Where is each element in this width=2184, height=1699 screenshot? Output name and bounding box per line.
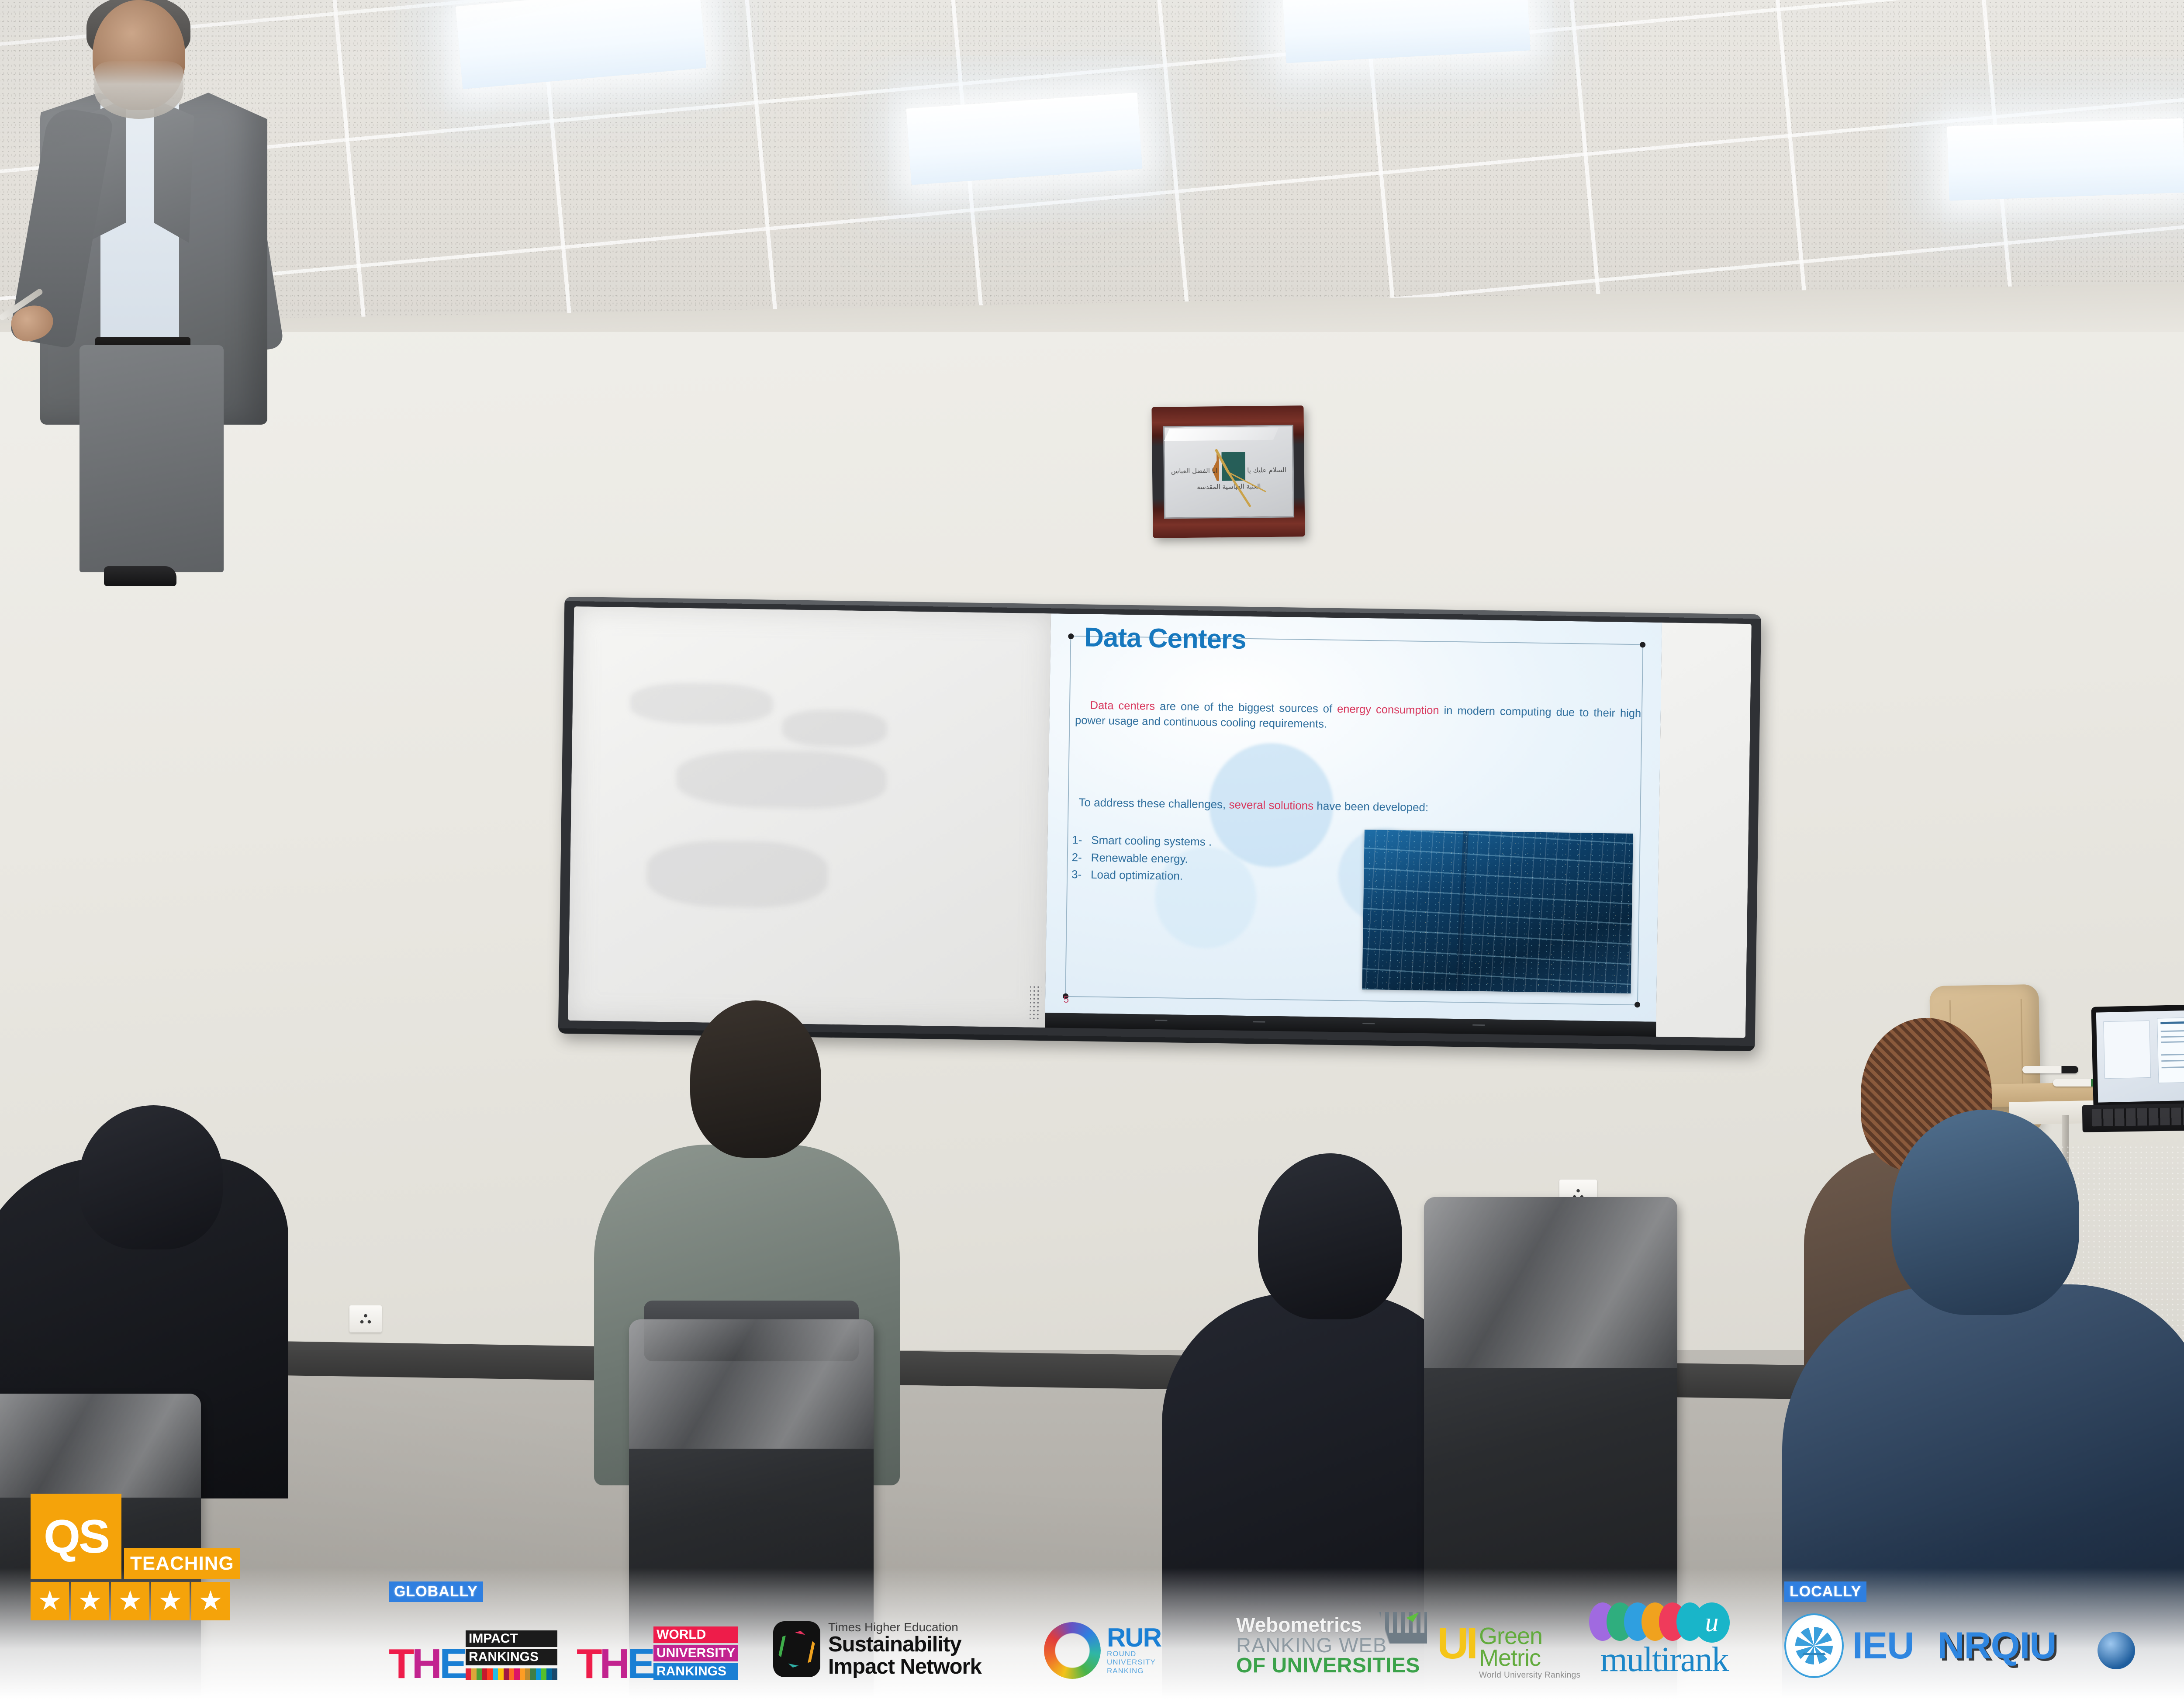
wall-clock: السلام عليك يا ابا الفضل العباس العتبة ا… — [1151, 405, 1305, 538]
ceiling-light-panel — [906, 93, 1143, 185]
locally-badge: LOCALLY — [1784, 1581, 1866, 1602]
slide-preview-pane — [2157, 1016, 2184, 1083]
presenter-shoe — [104, 566, 176, 586]
whiteboard-panel-right[interactable] — [1656, 623, 1752, 1038]
the-world-chips: WORLD UNIVERSITY RANKINGS — [653, 1626, 738, 1680]
webometrics-logo: Webometrics RANKING WEB OF UNIVERSITIES — [1236, 1615, 1420, 1676]
interactive-whiteboard[interactable]: Data Centers Data centers are one of the… — [558, 597, 1762, 1052]
nrqiu-label: NRQIU — [1937, 1624, 2056, 1668]
clock-glass-glare — [1164, 428, 1279, 441]
clock-arabic-right: السلام عليك يا — [1247, 466, 1286, 474]
slide-list-number: 1- — [1072, 831, 1092, 849]
sust-line2: Sustainability — [828, 1633, 981, 1656]
sdg-color-swatch — [498, 1668, 503, 1680]
presenter-trousers — [79, 345, 224, 572]
chair-plastic-wrap — [629, 1319, 874, 1449]
rur-ring-icon — [1044, 1622, 1101, 1679]
sdg-color-swatch — [471, 1668, 476, 1680]
presentation-screen[interactable]: Data Centers Data centers are one of the… — [1045, 613, 1662, 1022]
slide-list-item: 3-Load optimization. — [1071, 866, 1212, 885]
laptop-slide-title — [2160, 1021, 2184, 1024]
chair-plastic-wrap — [0, 1394, 201, 1498]
laptop-screen[interactable] — [2096, 1008, 2184, 1102]
the-letter: H — [600, 1647, 627, 1682]
sdg-color-swatch — [552, 1668, 557, 1680]
the-chip: IMPACT — [466, 1630, 557, 1647]
slide-handle — [1640, 642, 1645, 648]
sdg-color-swatch — [520, 1668, 525, 1680]
rur-globe-icon — [2098, 1632, 2135, 1669]
presenter-beard — [94, 61, 183, 119]
the-impact-rankings-logo: THE IMPACT RANKINGS — [389, 1630, 557, 1682]
slide-solution-list: 1-Smart cooling systems .2-Renewable ene… — [1071, 831, 1212, 885]
qs-brand-label: QS — [31, 1494, 121, 1579]
rur-logo: RUR ROUND UNIVERSITY RANKING — [1044, 1622, 1161, 1679]
the-chip: RANKINGS — [466, 1649, 557, 1665]
globally-badge: GLOBALLY — [389, 1581, 483, 1602]
slide-list-item: 1-Smart cooling systems . — [1072, 831, 1212, 851]
sdg-color-swatch — [482, 1668, 487, 1680]
ieu-label: IEU — [1852, 1624, 1914, 1668]
slide-title: Data Centers — [1084, 622, 1246, 655]
rur-abbr: RUR — [1107, 1626, 1161, 1650]
qs-category-label: TEACHING — [124, 1548, 240, 1579]
slide-list-number: 2- — [1071, 849, 1091, 866]
ieu-seal-icon — [1784, 1613, 1844, 1678]
whiteboard-panel[interactable] — [568, 606, 1051, 1028]
qs-stars-logo: QS TEACHING ★★★★★ — [31, 1494, 336, 1682]
uigm-metric: Metric — [1479, 1647, 1580, 1669]
slide-list-text: Load optimization. — [1091, 868, 1183, 882]
webo-line3: OF UNIVERSITIES — [1236, 1655, 1420, 1676]
wall-power-socket — [349, 1305, 382, 1332]
slide-image-leds — [1362, 830, 1633, 993]
sdg-color-swatch — [466, 1668, 471, 1680]
qs-star-icon: ★ — [111, 1582, 149, 1620]
slide-text-normal: are one of the biggest sources of — [1155, 700, 1337, 715]
the-world-rankings-logo: THE WORLD UNIVERSITY RANKINGS — [577, 1626, 738, 1682]
the-chip: WORLD — [653, 1626, 738, 1643]
sdg-color-swatch — [509, 1668, 514, 1680]
accreditation-banner: QS TEACHING ★★★★★ GLOBALLY THE IMPACT RA… — [0, 1568, 2184, 1699]
slide-text-highlight: Data centers — [1090, 699, 1155, 713]
sdg-color-swatch — [487, 1668, 492, 1680]
slide-list-text: Renewable energy. — [1091, 851, 1188, 865]
remote-control-icon[interactable] — [1030, 984, 1041, 1021]
local-accreditation-logos: IEU NRQIU — [1784, 1613, 2056, 1678]
uigm-green: Green — [1479, 1626, 1580, 1647]
board-surface: Data Centers Data centers are one of the… — [568, 606, 1752, 1038]
slide-list-text: Smart cooling systems . — [1091, 834, 1212, 848]
slide-list-item: 2-Renewable energy. — [1071, 849, 1212, 868]
audience-head — [1258, 1153, 1402, 1319]
slide-page-number: 5 — [1064, 994, 1069, 1005]
rur-line2: UNIVERSITY — [1107, 1658, 1161, 1667]
sdg-color-swatch — [530, 1668, 536, 1680]
slide-handle — [1068, 633, 1074, 639]
audience-head — [79, 1105, 223, 1249]
multirank-u-mark: u — [1694, 1602, 1730, 1643]
the-letter: T — [577, 1647, 600, 1682]
slide-text-normal: have been developed: — [1313, 799, 1429, 814]
audience-head — [1891, 1110, 2079, 1315]
qs-star-icon: ★ — [151, 1582, 190, 1620]
multirank-name: multirank — [1600, 1640, 1728, 1680]
rur-line3: RANKING — [1107, 1667, 1161, 1675]
the-letter: E — [627, 1647, 653, 1682]
the-letter: T — [389, 1647, 412, 1682]
audience-head — [690, 1000, 821, 1158]
multirank-dots: u — [1599, 1602, 1730, 1643]
webo-bar-chart-icon — [1362, 1612, 1427, 1644]
the-wordmark: THE — [389, 1647, 465, 1682]
the-impact-chips: IMPACT RANKINGS — [466, 1630, 557, 1680]
slide-thumbnail-pane — [2104, 1020, 2151, 1079]
slide-handle — [1635, 1002, 1640, 1008]
screenshot-stage: السلام عليك يا ابا الفضل العباس العتبة ا… — [0, 0, 2184, 1699]
sust-line1: Times Higher Education — [828, 1621, 981, 1633]
the-wordmark: THE — [577, 1647, 653, 1682]
rur-line1: ROUND — [1107, 1650, 1161, 1658]
uigm-ui: UI — [1437, 1626, 1476, 1661]
u-multirank-logo: u multirank — [1599, 1602, 1730, 1680]
the-chip: RANKINGS — [653, 1663, 738, 1680]
ceiling-light-panel — [1947, 118, 2184, 201]
sdg-color-swatch — [514, 1668, 519, 1680]
sustainability-impact-network-logo: Times Higher Education Sustainability Im… — [773, 1621, 981, 1678]
sdg-color-swatch — [525, 1668, 530, 1680]
qs-star-icon: ★ — [31, 1582, 69, 1620]
sdg-color-bar — [466, 1668, 557, 1680]
the-letter: E — [439, 1647, 465, 1682]
presenter-lapel-right — [154, 99, 194, 243]
qs-star-rating: ★★★★★ — [31, 1582, 230, 1620]
sdg-color-swatch — [493, 1668, 498, 1680]
ui-greenmetric-logo: UI Green Metric World University Ranking… — [1437, 1626, 1580, 1679]
qs-star-icon: ★ — [191, 1582, 230, 1620]
sdg-color-swatch — [536, 1668, 541, 1680]
slide-list-number: 3- — [1071, 866, 1091, 883]
slide-text-highlight: several solutions — [1229, 798, 1313, 812]
qs-star-icon: ★ — [71, 1582, 109, 1620]
slide-server-rack-image — [1362, 830, 1633, 993]
slide-text-highlight: energy consumption — [1337, 703, 1439, 716]
the-chip: UNIVERSITY — [653, 1645, 738, 1661]
the-letter: H — [412, 1647, 439, 1682]
sust-line3: Impact Network — [828, 1656, 981, 1678]
sdg-color-swatch — [477, 1668, 482, 1680]
uigm-sub: World University Rankings — [1479, 1671, 1580, 1679]
clock-arabic-left: ابا الفضل العباس — [1171, 467, 1218, 475]
presenter-laptop[interactable] — [2091, 1003, 2184, 1107]
sdg-color-swatch — [541, 1668, 546, 1680]
sdg-color-swatch — [546, 1668, 552, 1680]
sdg-color-swatch — [504, 1668, 509, 1680]
slide-text-normal: To address these challenges, — [1078, 796, 1229, 811]
chair-plastic-wrap — [1424, 1197, 1677, 1368]
sustainability-hex-icon — [773, 1621, 820, 1677]
